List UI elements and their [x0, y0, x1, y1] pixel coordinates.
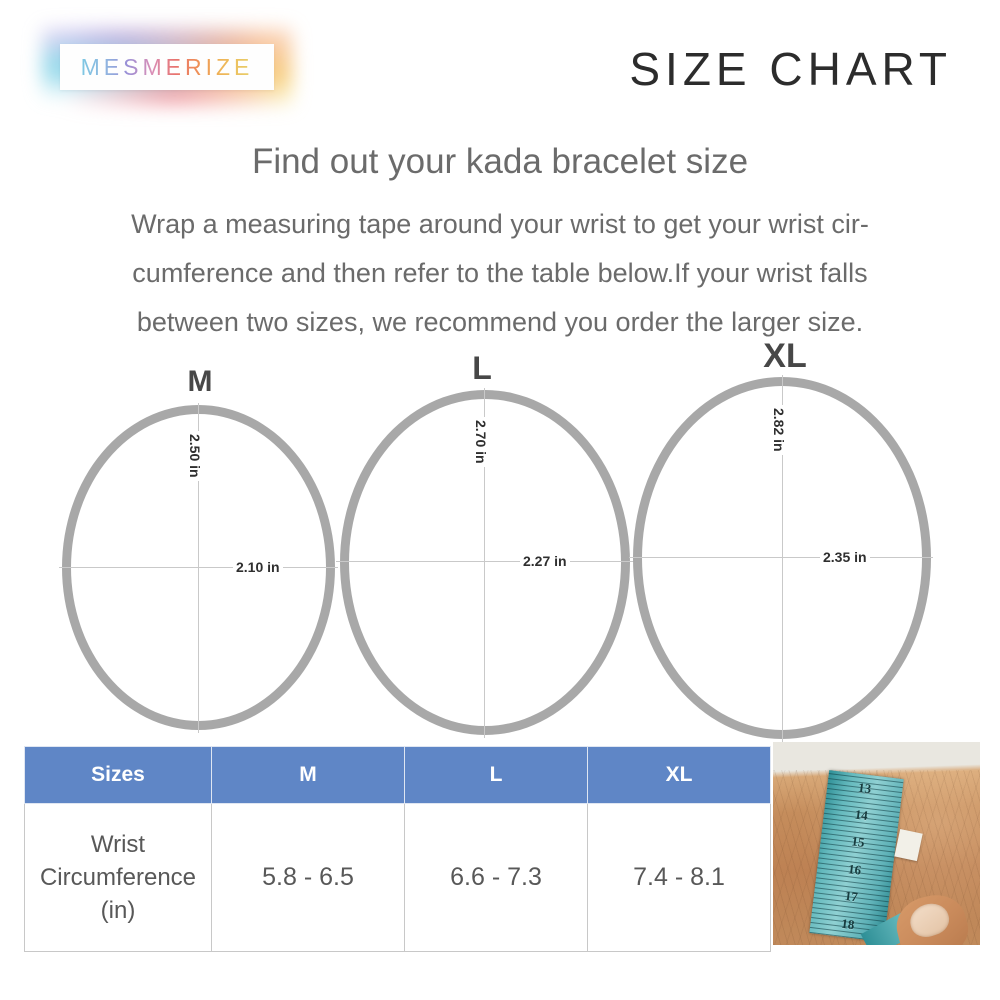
oval-height-label-xl: 2.82 in	[770, 405, 788, 455]
logo-box: MESMERIZE	[60, 44, 274, 90]
oval-label-xl: XL	[625, 337, 945, 376]
page-title: SIZE CHART	[629, 42, 952, 96]
oval-label-m: M	[55, 365, 345, 399]
cell-wrist-l: 6.6 - 7.3	[405, 804, 588, 952]
cell-wrist-xl: 7.4 - 8.1	[588, 804, 771, 952]
size-chart-page: MESMERIZE SIZE CHART Find out your kada …	[0, 0, 1000, 1000]
oval-axis-horizontal-l	[336, 561, 634, 562]
oval-height-label-l: 2.70 in	[472, 417, 490, 467]
wrist-measuring-photo: 13 14 15 16 17 18	[773, 742, 980, 945]
table-header-sizes: Sizes	[25, 747, 212, 804]
table-row: Wrist Circumference (in) 5.8 - 6.5 6.6 -…	[25, 804, 771, 952]
oval-axis-horizontal-m	[59, 567, 338, 568]
row-label-wrist-circumference: Wrist Circumference (in)	[25, 804, 212, 952]
table-header-xl: XL	[588, 747, 771, 804]
size-table: Sizes M L XL Wrist Circumference (in) 5.…	[24, 746, 771, 952]
oval-diagram-l: L 2.70 in 2.27 in	[332, 345, 632, 745]
oval-width-label-xl: 2.35 in	[820, 548, 870, 566]
brand-logo: MESMERIZE	[42, 28, 292, 106]
oval-diagram-xl: XL 2.82 in 2.35 in	[625, 345, 945, 745]
intro-heading: Find out your kada bracelet size	[0, 142, 1000, 182]
tape-number-16: 16	[847, 861, 862, 878]
logo-text: MESMERIZE	[81, 54, 254, 81]
table-header-row: Sizes M L XL	[25, 747, 771, 804]
tape-number-13: 13	[857, 780, 872, 797]
oval-diagrams: M 2.50 in 2.10 in L 2.70 in 2.27 in XL 2…	[0, 345, 1000, 745]
tape-number-17: 17	[843, 889, 858, 906]
oval-diagram-m: M 2.50 in 2.10 in	[55, 345, 345, 745]
table-header-m: M	[212, 747, 405, 804]
tape-number-14: 14	[853, 807, 868, 824]
row-label-line-3: (in)	[26, 894, 210, 927]
oval-height-label-m: 2.50 in	[186, 431, 204, 481]
oval-axis-horizontal-xl	[629, 557, 933, 558]
intro-paragraph: Wrap a measuring tape around your wrist …	[50, 200, 950, 347]
intro-line-2: cumference and then refer to the table b…	[50, 249, 950, 298]
oval-width-label-l: 2.27 in	[520, 552, 570, 570]
oval-width-label-m: 2.10 in	[233, 558, 283, 576]
table-header-l: L	[405, 747, 588, 804]
row-label-line-2: Circumference	[26, 861, 210, 894]
tape-number-18: 18	[840, 916, 855, 933]
cell-wrist-m: 5.8 - 6.5	[212, 804, 405, 952]
intro-line-1: Wrap a measuring tape around your wrist …	[50, 200, 950, 249]
row-label-line-1: Wrist	[26, 828, 210, 861]
tape-number-15: 15	[850, 834, 865, 851]
oval-label-l: L	[332, 350, 632, 387]
